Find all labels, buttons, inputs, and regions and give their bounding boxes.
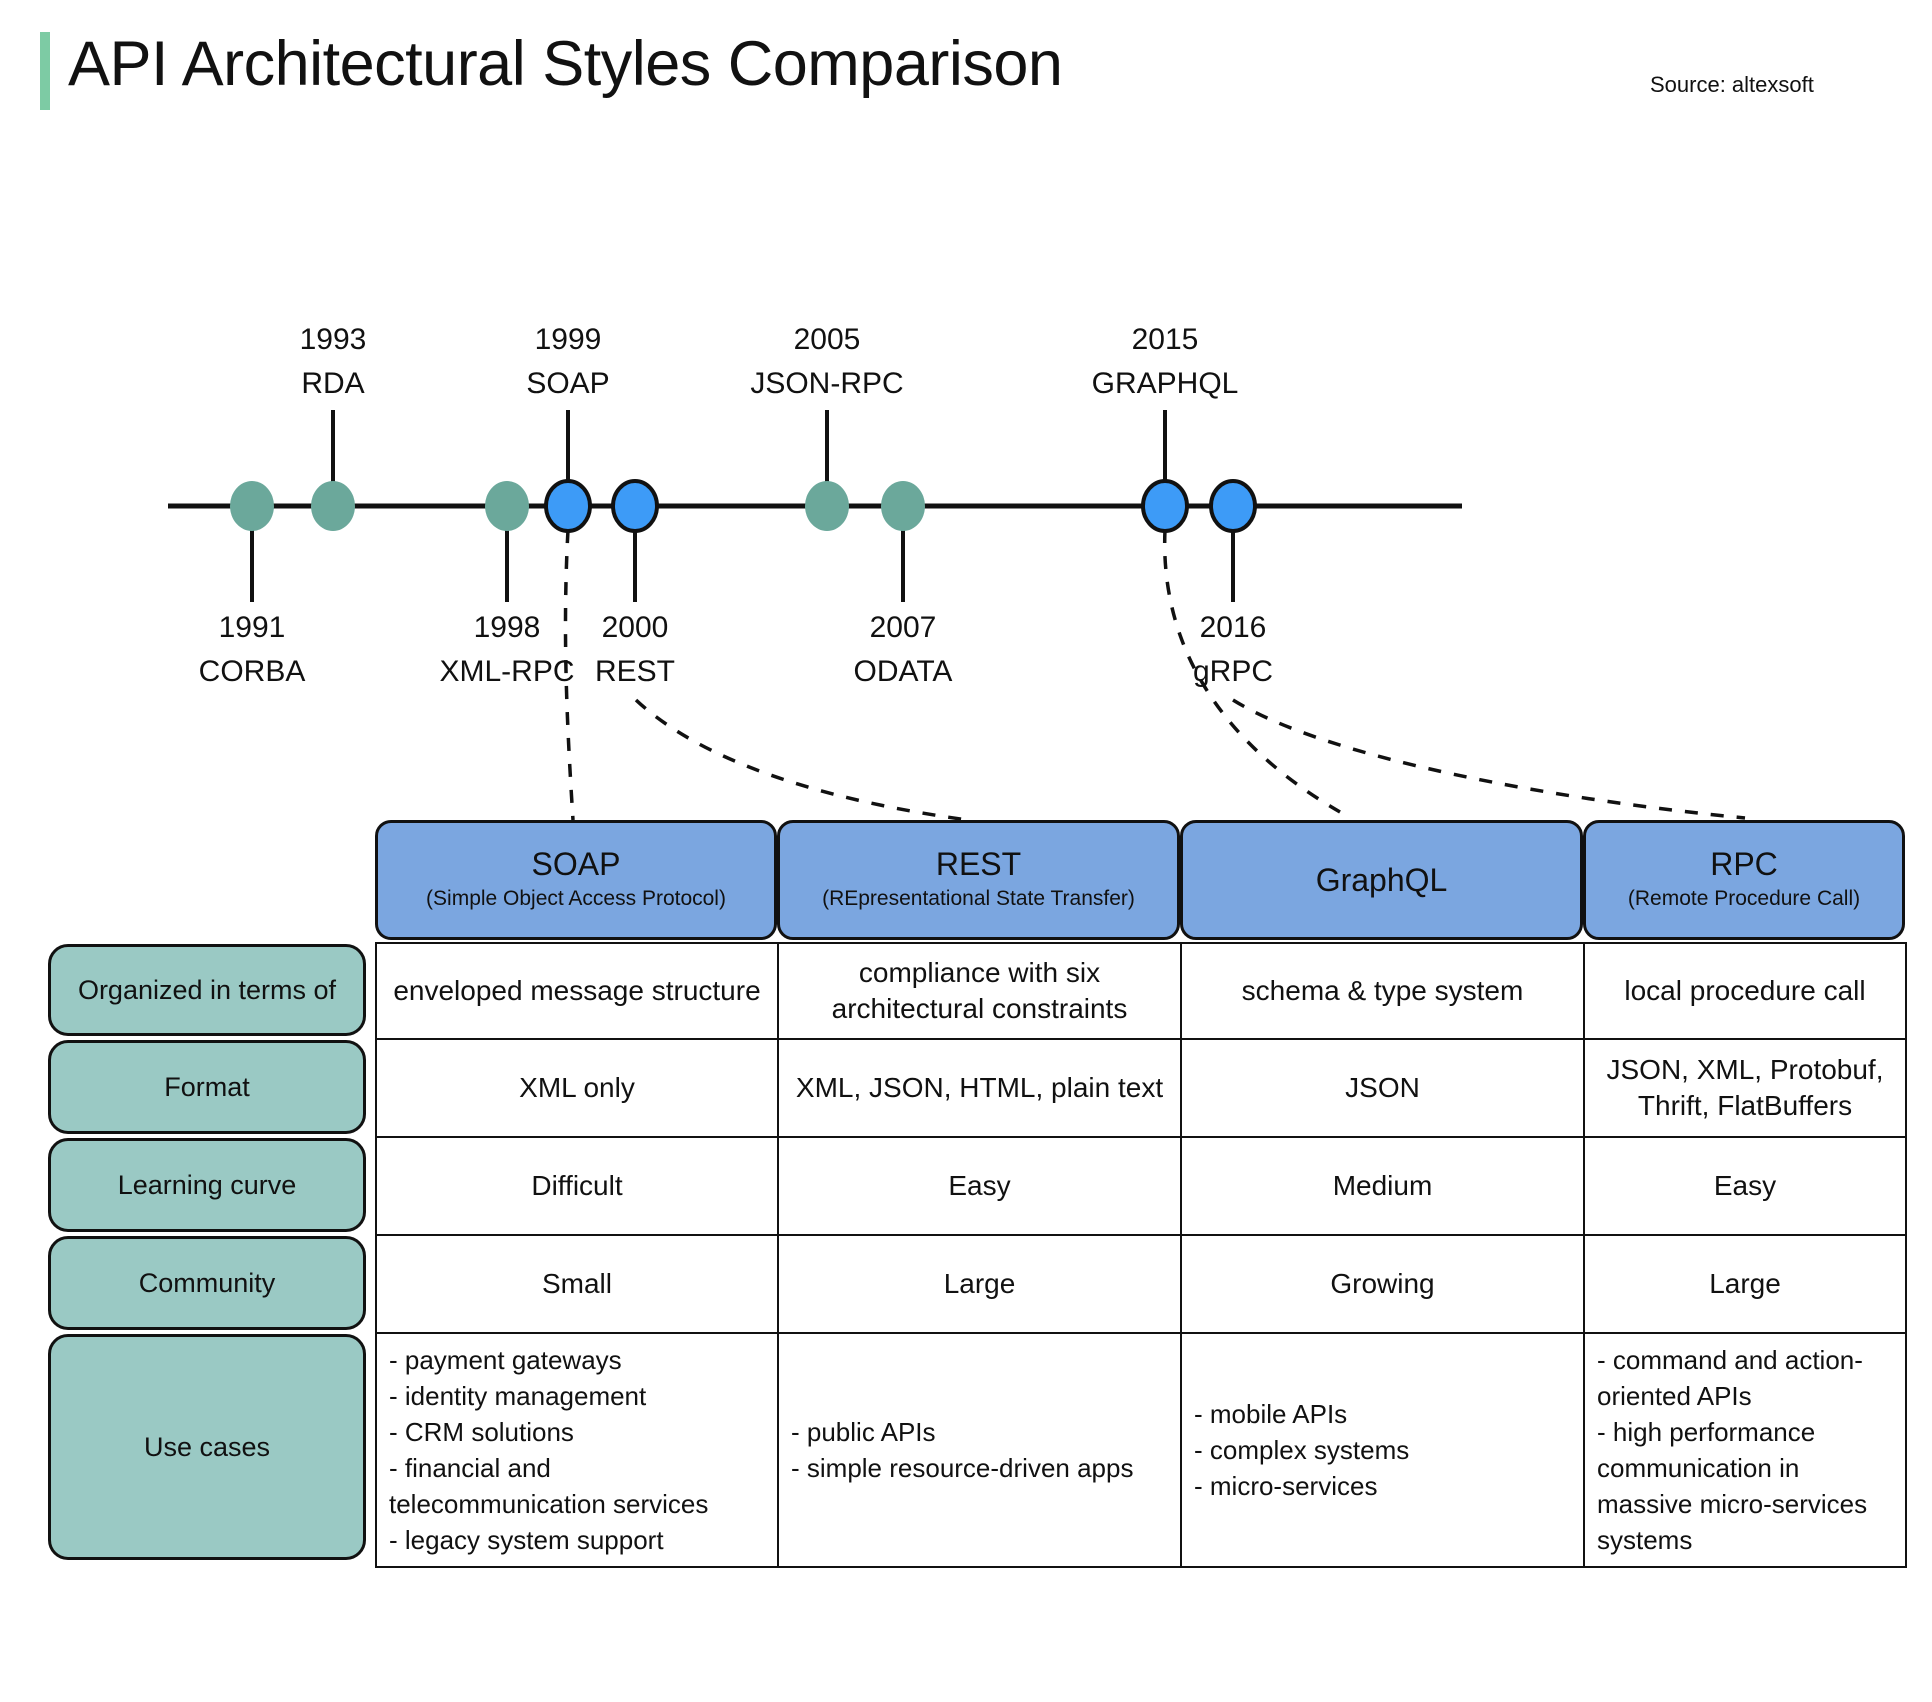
use-case-item: - complex systems [1194,1432,1571,1468]
table-cell: XML, JSON, HTML, plain text [778,1039,1181,1137]
row-label-learning-curve[interactable]: Learning curve [48,1138,366,1232]
use-case-item: - legacy system support [389,1522,765,1558]
column-header-rpc[interactable]: RPC(Remote Procedure Call) [1583,820,1905,940]
connector-graphql [1165,530,1340,812]
column-header-name: GraphQL [1316,861,1448,899]
row-label-format[interactable]: Format [48,1040,366,1134]
table-cell: Growing [1181,1235,1584,1333]
use-case-item: - high performance communication in mass… [1597,1414,1893,1558]
use-case-item: - payment gateways [389,1342,765,1378]
table-row: SmallLargeGrowingLarge [376,1235,1906,1333]
row-label-community[interactable]: Community [48,1236,366,1330]
table-row: - payment gateways- identity management-… [376,1333,1906,1567]
row-label-use-cases[interactable]: Use cases [48,1334,366,1560]
table-cell: XML only [376,1039,778,1137]
column-header-name: RPC [1710,845,1778,883]
table-row: DifficultEasyMediumEasy [376,1137,1906,1235]
use-case-item: - identity management [389,1378,765,1414]
column-header-subtitle: (Simple Object Access Protocol) [426,883,726,915]
table-cell: Easy [1584,1137,1906,1235]
column-header-subtitle: (Remote Procedure Call) [1628,883,1860,915]
use-case-item: - public APIs [791,1414,1168,1450]
connector-soap [565,530,573,820]
comparison-table: enveloped message structurecompliance wi… [375,942,1907,1568]
table-cell: - payment gateways- identity management-… [376,1333,778,1567]
table-cell: JSON [1181,1039,1584,1137]
column-header-name: REST [936,845,1021,883]
column-header-name: SOAP [532,845,621,883]
use-case-item: - command and action-oriented APIs [1597,1342,1893,1414]
connector-rpc [1233,700,1745,818]
table-cell: compliance with six architectural constr… [778,943,1181,1039]
use-case-item: - financial and telecommunication servic… [389,1450,765,1522]
column-header-soap[interactable]: SOAP(Simple Object Access Protocol) [375,820,777,940]
table-cell: - command and action-oriented APIs- high… [1584,1333,1906,1567]
row-label-organized-in-terms-of[interactable]: Organized in terms of [48,944,366,1036]
column-header-graphql[interactable]: GraphQL [1180,820,1583,940]
table-cell: Large [778,1235,1181,1333]
table-cell: Easy [778,1137,1181,1235]
table-cell: Medium [1181,1137,1584,1235]
table-cell: Small [376,1235,778,1333]
use-case-item: - micro-services [1194,1468,1571,1504]
column-header-subtitle: (REpresentational State Transfer) [822,883,1135,915]
connector-rest [636,700,968,820]
table-cell: Difficult [376,1137,778,1235]
table-cell: enveloped message structure [376,943,778,1039]
table-cell: local procedure call [1584,943,1906,1039]
table-row: enveloped message structurecompliance wi… [376,943,1906,1039]
table-cell: - mobile APIs- complex systems- micro-se… [1181,1333,1584,1567]
table-row: XML onlyXML, JSON, HTML, plain textJSONJ… [376,1039,1906,1137]
table-cell: JSON, XML, Protobuf, Thrift, FlatBuffers [1584,1039,1906,1137]
table-cell: - public APIs- simple resource-driven ap… [778,1333,1181,1567]
use-case-item: - mobile APIs [1194,1396,1571,1432]
table-cell: Large [1584,1235,1906,1333]
use-case-item: - CRM solutions [389,1414,765,1450]
use-case-item: - simple resource-driven apps [791,1450,1168,1486]
table-cell: schema & type system [1181,943,1584,1039]
column-header-rest[interactable]: REST(REpresentational State Transfer) [777,820,1180,940]
table-column-headers: SOAP(Simple Object Access Protocol)REST(… [375,820,1905,940]
